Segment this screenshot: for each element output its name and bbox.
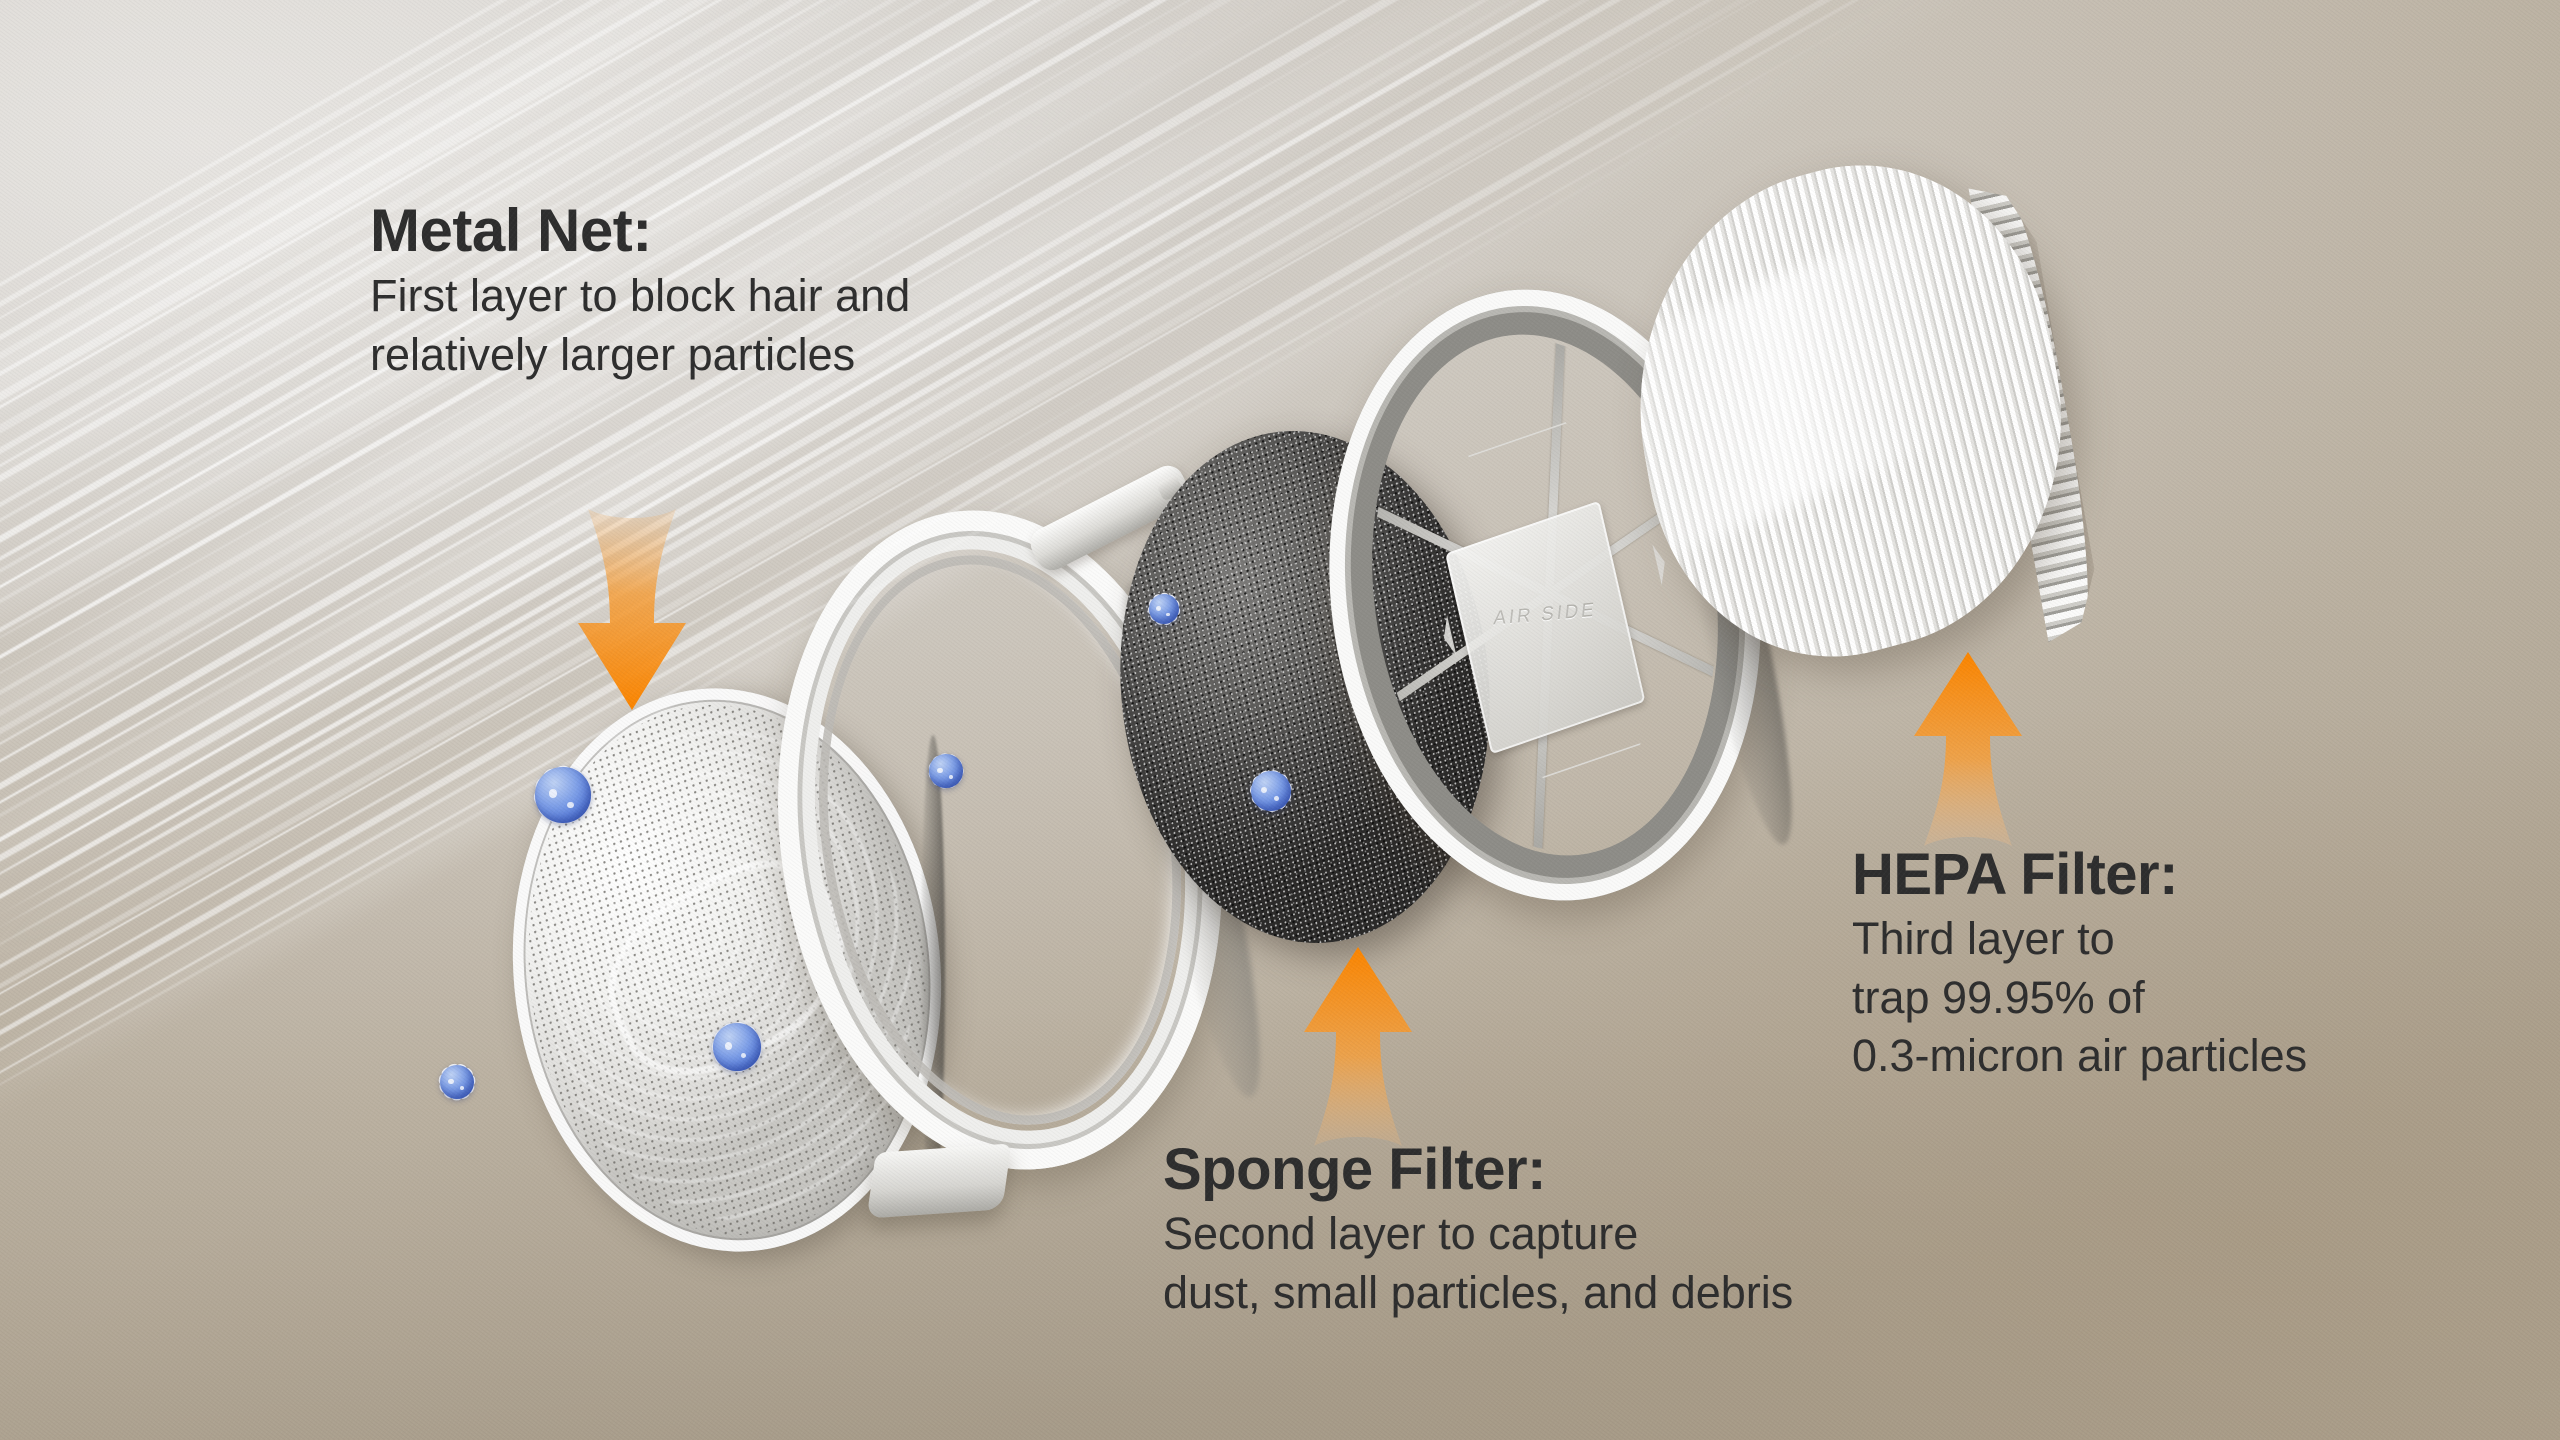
callout-line: Second layer to capture <box>1163 1205 1793 1264</box>
callout-line: dust, small particles, and debris <box>1163 1264 1793 1323</box>
germ-core <box>929 754 962 787</box>
infographic-canvas: AIR SIDE <box>0 0 2560 1440</box>
arrow-up-icon <box>1288 945 1428 1150</box>
germ-core <box>713 1023 760 1070</box>
callout-line: First layer to block hair and <box>370 267 910 326</box>
arrow-down-icon <box>562 505 702 720</box>
germ-core <box>1251 771 1291 811</box>
germ-particle-icon <box>1140 585 1188 633</box>
callout-title: Metal Net: <box>370 200 910 261</box>
callout-line: trap 99.95% of <box>1852 969 2307 1028</box>
callout-metal-net: Metal Net: First layer to block hair and… <box>370 200 910 384</box>
germ-particle-icon <box>430 1055 484 1109</box>
callout-line: relatively larger particles <box>370 326 910 385</box>
germ-particle-icon <box>1240 760 1302 822</box>
hepa-face <box>1605 119 2096 701</box>
callout-sponge-filter: Sponge Filter: Second layer to capture d… <box>1163 1140 1793 1322</box>
callout-title: Sponge Filter: <box>1163 1140 1793 1199</box>
callout-title: HEPA Filter: <box>1852 845 2307 904</box>
arrow-up-icon <box>1898 650 2038 850</box>
callout-line: Third layer to <box>1852 910 2307 969</box>
hepa-disc <box>1640 170 2060 650</box>
callout-hepa-filter: HEPA Filter: Third layer to trap 99.95% … <box>1852 845 2307 1086</box>
germ-particle-icon <box>700 1010 774 1084</box>
germ-particle-icon <box>520 752 606 838</box>
germ-core <box>535 767 590 822</box>
germ-particle-icon <box>920 745 972 797</box>
ring-foot <box>867 1143 1012 1218</box>
callout-line: 0.3-micron air particles <box>1852 1027 2307 1086</box>
frame-emboss-text: AIR SIDE <box>1486 597 1627 693</box>
